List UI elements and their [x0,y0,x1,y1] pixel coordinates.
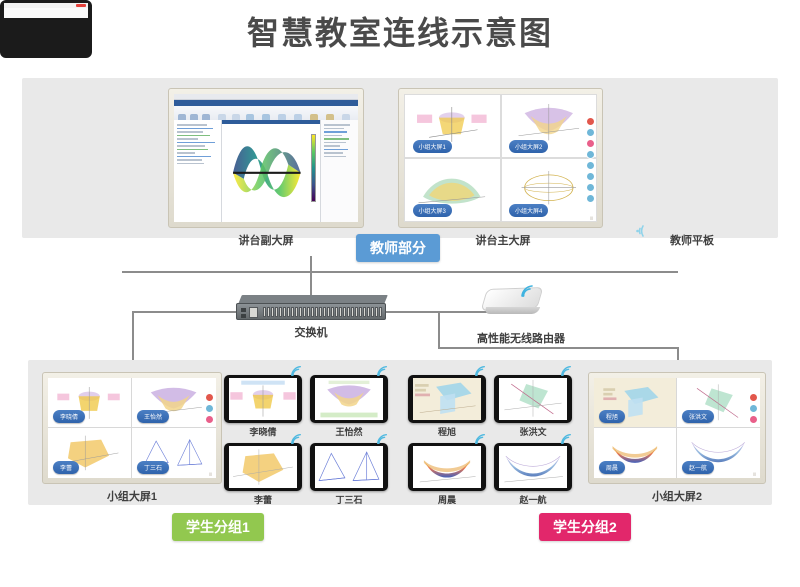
annotate-icon [586,139,595,148]
student-tablet-g1-3-name: 李蕾 [224,493,302,506]
student-tablet-g2-1[interactable] [408,375,486,423]
podium-cell-3[interactable]: 小组大屏3 [404,158,501,222]
podium-main-toolstrip[interactable] [586,117,595,205]
group2-badge: 学生分组2 [539,513,631,541]
student-tablet-g2-1-wifi-icon [473,365,487,377]
group1-quad-1[interactable]: 李晓倩 [48,378,132,428]
group1-quad-name-3: 李蕾 [53,461,79,474]
podium-sub-screen-caption: 讲台副大屏 [216,232,316,248]
diagram-geometry-t2 [315,378,383,420]
line-to-group2-screen [438,347,678,349]
group1-quad-name-1: 李晓倩 [53,410,85,423]
group2-quad-1[interactable]: 程旭 [594,378,677,428]
group1-toolstrip[interactable] [205,393,214,428]
diagram-geometry-t6 [499,378,567,420]
podium-main-screen[interactable]: 小组大屏1 小组大屏2 小组大屏3 [398,88,603,228]
line-horizontal-bus [122,271,678,273]
layout-icon [586,183,595,192]
podium-main-grid: 小组大屏1 小组大屏2 小组大屏3 [404,94,597,222]
group2-toolstrip[interactable] [749,393,758,428]
student-tablet-g1-1[interactable] [224,375,302,423]
group1-badge: 学生分组1 [172,513,264,541]
group2-brand-mark: ||| [753,471,756,476]
network-switch[interactable] [236,295,386,321]
group2-quad-name-2: 张洪文 [682,410,714,423]
group1-quad-3[interactable]: 李蕾 [48,428,132,478]
group1-big-screen-caption: 小组大屏1 [82,488,182,504]
teacher-section-badge: 教师部分 [356,234,440,262]
matlab-editor-pane[interactable] [174,120,222,222]
screen-brand-mark: ||| [590,215,593,220]
group2-big-screen-display: 程旭 张洪文 周晨 赵一航 | [594,378,760,478]
podium-main-screen-display: 小组大屏1 小组大屏2 小组大屏3 [404,94,597,222]
student-tablet-g1-4[interactable] [310,443,388,491]
grid-icon [586,128,595,137]
student-tablet-g2-1-screen [413,378,481,420]
group1-brand-mark: ||| [209,471,212,476]
group2-quad-2[interactable]: 张洪文 [677,378,760,428]
menu-icon [586,172,595,181]
teacher-tablet-caption: 教师平板 [650,232,734,248]
router-label: 高性能无线路由器 [466,330,576,346]
student-tablet-g2-4-wifi-icon [559,433,573,445]
podium-cell-label-3: 小组大屏3 [413,204,452,217]
student-tablet-g2-3-wifi-icon [473,433,487,445]
line-down-to-group1-screen [132,311,134,365]
save-icon [586,161,595,170]
diagram-geometry-t5 [413,378,481,420]
line-bus-to-switch [310,271,312,297]
group2-quad-3[interactable]: 周晨 [594,428,677,478]
student-tablet-g2-3-screen [413,446,481,488]
group1-quad-2[interactable]: 王怡然 [132,378,216,428]
diagram-geometry-t1 [229,378,297,420]
student-tablet-g1-4-name: 丁三石 [310,493,388,506]
matlab-workspace-pane[interactable] [321,120,358,222]
student-tablet-g1-2-screen [315,378,383,420]
diagram-geometry-t3 [229,446,297,488]
podium-sub-screen-display [174,94,358,222]
podium-cell-label-1: 小组大屏1 [413,140,452,153]
student-tablet-g2-4-name: 赵一航 [494,493,572,506]
student-tablet-g1-3[interactable] [224,443,302,491]
group1-big-screen[interactable]: 李晓倩 王怡然 李蕾 [42,372,222,484]
matlab-window [174,94,358,222]
teacher-tablet-wifi-icon [630,224,646,238]
group2-quad-4[interactable]: 赵一航 [677,428,760,478]
switch-ports [263,307,382,317]
podium-sub-screen[interactable] [168,88,364,228]
diagram-geometry-t4 [315,446,383,488]
line-switch-to-left [132,311,236,313]
student-tablet-g1-2-wifi-icon [375,365,389,377]
group1-quad-name-2: 王怡然 [137,410,169,423]
podium-cell-label-4: 小组大屏4 [509,204,548,217]
student-tablet-g2-3-name: 周晨 [408,493,486,506]
podium-main-screen-caption: 讲台主大屏 [448,232,558,248]
colorbar [311,134,316,201]
group2-big-screen-caption: 小组大屏2 [627,488,727,504]
surface-plot-saddle [413,446,481,488]
student-tablet-g2-3[interactable] [408,443,486,491]
record-icon [586,117,595,126]
group1-big-screen-display: 李晓倩 王怡然 李蕾 [48,378,216,478]
podium-cell-label-2: 小组大屏2 [509,140,548,153]
group1-quad-4[interactable]: 丁三石 [132,428,216,478]
student-tablet-g1-4-wifi-icon [375,433,389,445]
podium-cell-4[interactable]: 小组大屏4 [501,158,598,222]
podium-cell-2[interactable]: 小组大屏2 [501,94,598,158]
surface-plot-paraboloid [499,446,567,488]
student-tablet-g1-1-screen [229,378,297,420]
group2-quad-name-4: 赵一航 [682,461,714,474]
podium-cell-1[interactable]: 小组大屏1 [404,94,501,158]
student-tablet-g1-4-screen [315,446,383,488]
group1-quad-name-4: 丁三石 [137,461,169,474]
record-badge-icon [76,4,86,7]
group2-big-screen[interactable]: 程旭 张洪文 周晨 赵一航 | [588,372,766,484]
settings-icon [586,194,595,203]
student-tablet-g2-4[interactable] [494,443,572,491]
student-tablet-g2-4-screen [499,446,567,488]
switch-label: 交换机 [281,324,341,340]
line-router-down [438,311,440,348]
group2-quad-name-3: 周晨 [599,461,625,474]
student-tablet-g2-2-screen [499,378,567,420]
student-tablet-g1-3-screen [229,446,297,488]
router-wifi-icon [519,284,535,298]
page-title: 智慧教室连线示意图 [0,8,800,54]
surface-plot-3d [230,132,307,203]
student-tablet-g2-2[interactable] [494,375,572,423]
matlab-body [174,120,358,222]
line-teacher-to-bus [310,256,312,272]
switch-front-face [236,303,386,320]
student-tablet-g1-2[interactable] [310,375,388,423]
matlab-figure-pane[interactable] [222,120,321,222]
group2-quad-name-1: 程旭 [599,410,625,423]
router-side-face [484,307,540,314]
share-icon [586,150,595,159]
student-tablet-g2-2-wifi-icon [559,365,573,377]
student-tablet-g1-1-wifi-icon [289,365,303,377]
student-tablet-g1-3-wifi-icon [289,433,303,445]
